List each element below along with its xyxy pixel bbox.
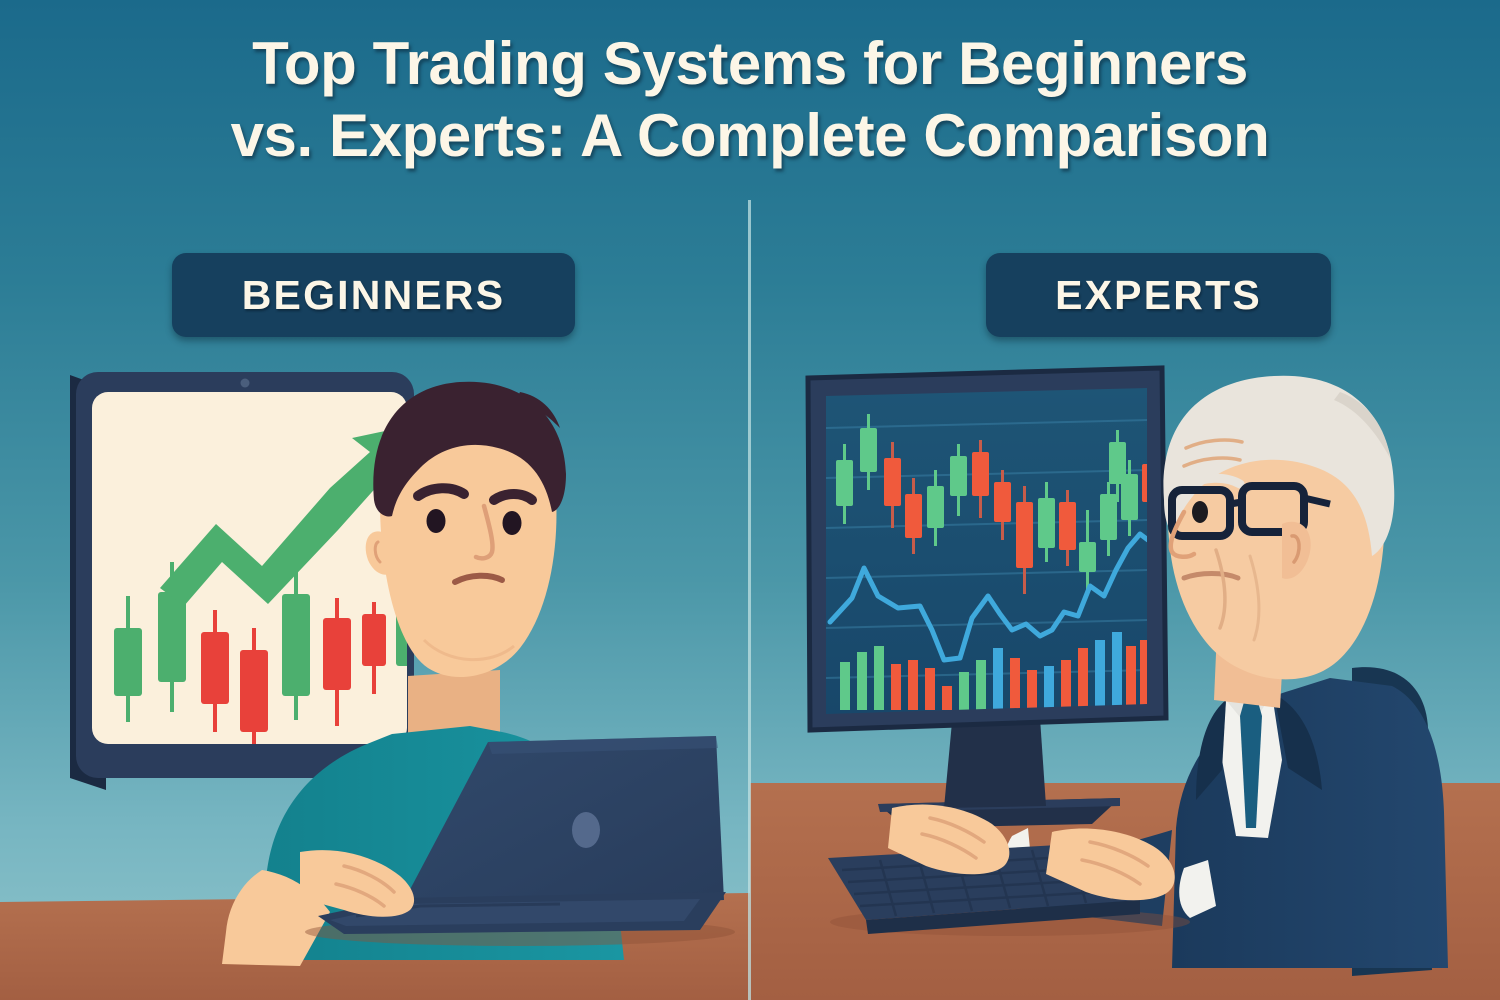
artwork-layer bbox=[0, 0, 1500, 1000]
beginner-eye-left bbox=[427, 509, 446, 533]
expert-monitor bbox=[808, 368, 1166, 828]
monitor-neck bbox=[944, 718, 1046, 808]
tablet-camera-icon bbox=[241, 379, 250, 388]
illustration-canvas: Top Trading Systems for Beginners vs. Ex… bbox=[0, 0, 1500, 1000]
expert-eye bbox=[1192, 501, 1208, 523]
badge-experts-label: EXPERTS bbox=[1055, 272, 1262, 319]
badge-experts[interactable]: EXPERTS bbox=[986, 253, 1331, 337]
badge-beginners[interactable]: BEGINNERS bbox=[172, 253, 575, 337]
laptop-logo-icon bbox=[572, 812, 600, 848]
badge-beginners-label: BEGINNERS bbox=[242, 272, 506, 319]
beginner-eye-right bbox=[503, 511, 522, 535]
